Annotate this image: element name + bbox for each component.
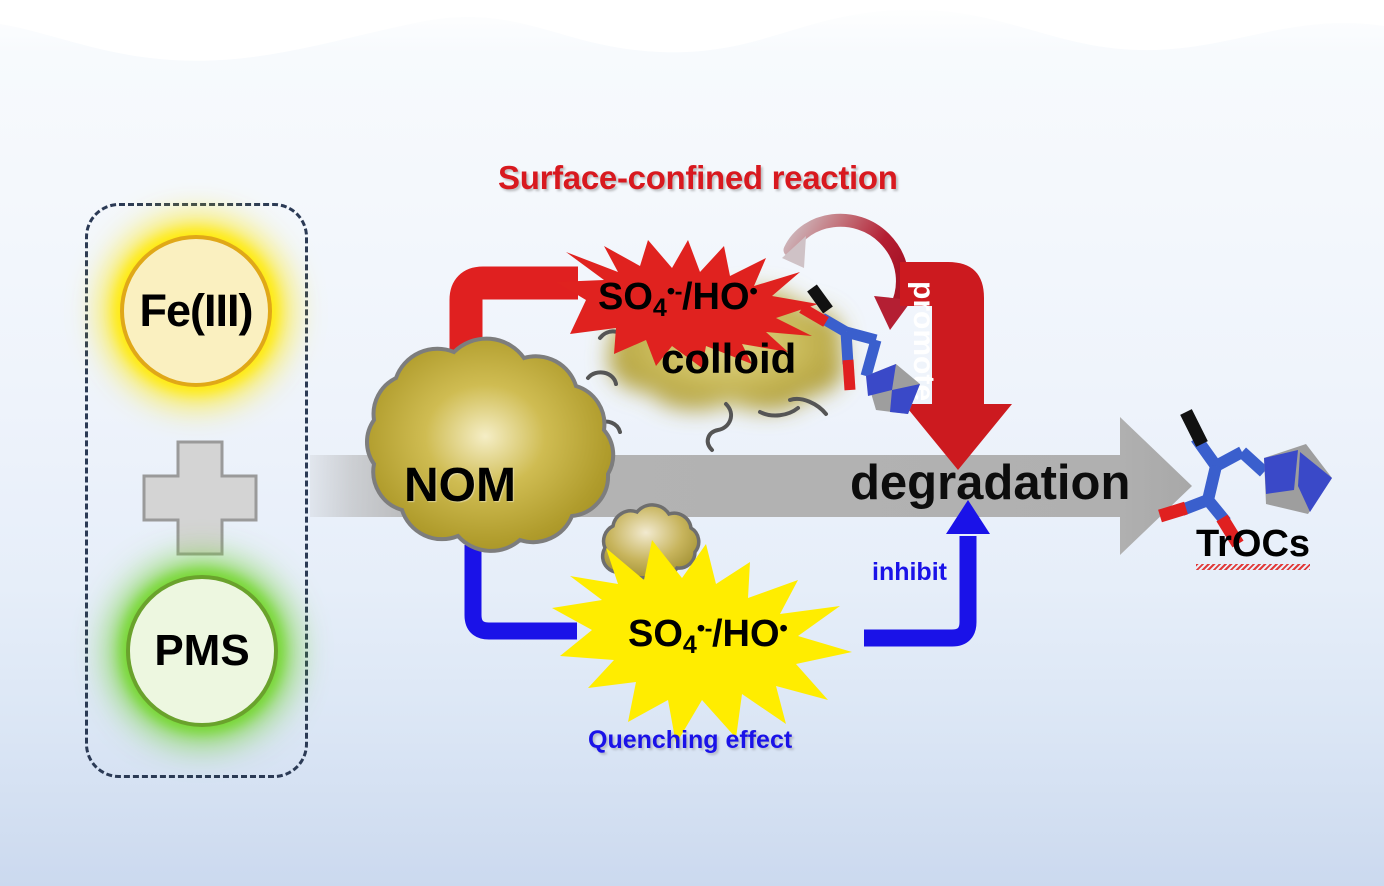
radical-label-upper: SO4•-/HO• (598, 276, 757, 323)
reagent-pms-circle[interactable]: PMS (126, 575, 278, 727)
radical-label-lower: SO4•-/HO• (628, 613, 787, 660)
nom-label: NOM (404, 458, 516, 513)
degradation-label: degradation (850, 455, 1130, 511)
inhibit-label: inhibit (872, 558, 947, 587)
trocs-label: TrOCs (1196, 523, 1310, 570)
colloid-label: colloid (661, 335, 796, 383)
trocs-text: TrOCs (1196, 523, 1310, 565)
headline-surface-confined-reaction: Surface-confined reaction (498, 159, 898, 197)
reagent-pms-label: PMS (154, 626, 249, 676)
figure-canvas: promote (0, 0, 1384, 886)
quenching-effect-label: Quenching effect (588, 726, 792, 755)
